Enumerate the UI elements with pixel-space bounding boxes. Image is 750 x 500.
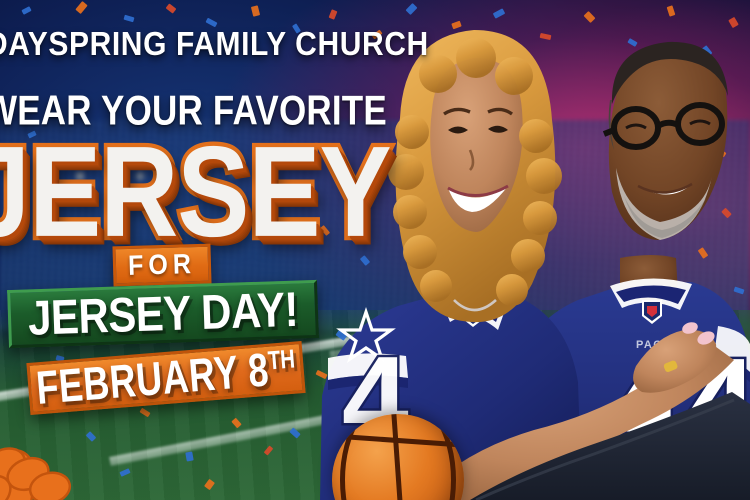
badge-for: FOR <box>112 244 211 287</box>
badge-for-label: FOR <box>128 248 197 282</box>
basketball-seam <box>340 414 456 500</box>
badge-date-main: FEBRUARY 8 <box>34 343 271 416</box>
church-name: DAYSPRING FAMILY CHURCH <box>0 26 429 64</box>
badge-date-label: FEBRUARY 8TH <box>35 344 298 413</box>
basketball-icon <box>332 414 464 500</box>
badge-jersey-day: JERSEY DAY! <box>7 280 319 348</box>
foam-finger-icon <box>0 418 96 500</box>
headline-jersey: JERSEY <box>0 128 391 257</box>
badge-date-suffix: TH <box>267 345 296 377</box>
badge-jersey-day-label: JERSEY DAY! <box>27 282 299 347</box>
jersey-day-promo-poster: PACKERS 44 <box>0 0 750 500</box>
badge-event-date: FEBRUARY 8TH <box>26 341 305 415</box>
